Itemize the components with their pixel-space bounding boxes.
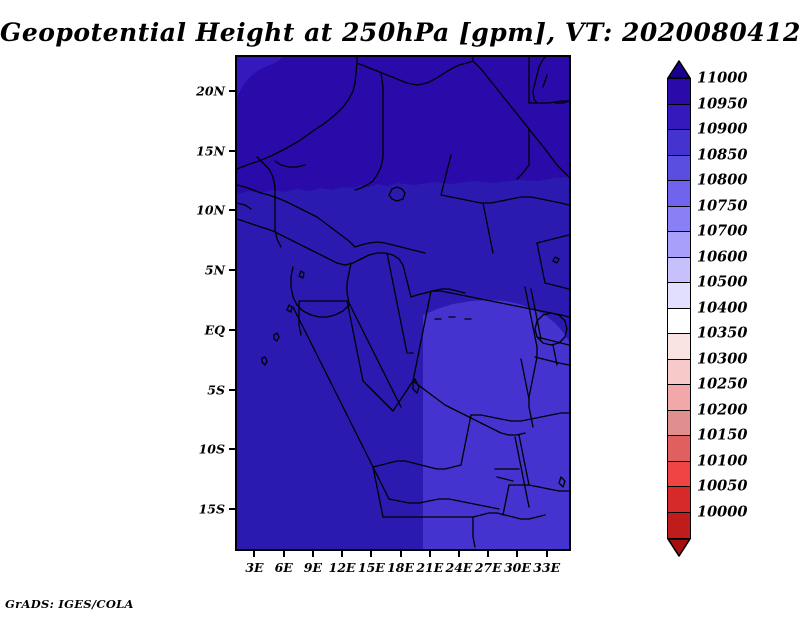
latitude-tick <box>229 90 235 92</box>
longitude-tick <box>370 551 372 557</box>
colorbar-segment <box>667 486 691 513</box>
longitude-tick <box>312 551 314 557</box>
longitude-tick <box>283 551 285 557</box>
colorbar-segment <box>667 333 691 360</box>
colorbar-segment <box>667 231 691 258</box>
latitude-tick <box>229 329 235 331</box>
colorbar-label-10400: 10400 <box>697 299 747 316</box>
colorbar-segment <box>667 257 691 284</box>
colorbar-label-10500: 10500 <box>697 274 747 291</box>
longitude-label-27e: 27E <box>475 560 502 575</box>
latitude-label-5s: 5S <box>207 382 225 397</box>
longitude-label-12e: 12E <box>329 560 356 575</box>
colorbar-label-10050: 10050 <box>697 478 747 495</box>
colorbar-segment <box>667 512 691 539</box>
longitude-label-9e: 9E <box>304 560 322 575</box>
colorbar-label-10700: 10700 <box>697 223 747 240</box>
colorbar-segment <box>667 410 691 437</box>
colorbar-cap-top <box>667 60 691 78</box>
latitude-tick <box>229 508 235 510</box>
colorbar-label-10150: 10150 <box>697 427 747 444</box>
longitude-tick <box>487 551 489 557</box>
colorbar-label-10200: 10200 <box>697 401 747 418</box>
latitude-label-15n: 15N <box>196 143 225 158</box>
longitude-label-18e: 18E <box>387 560 414 575</box>
colorbar-label-10850: 10850 <box>697 146 747 163</box>
longitude-label-30e: 30E <box>504 560 531 575</box>
latitude-label-5n: 5N <box>205 263 225 278</box>
colorbar: 1100010950109001085010800107501070010600… <box>667 60 691 555</box>
longitude-tick <box>253 551 255 557</box>
colorbar-segment <box>667 435 691 462</box>
map-plot-area <box>235 55 571 551</box>
latitude-label-eq: EQ <box>205 322 225 337</box>
latitude-tick <box>229 389 235 391</box>
longitude-label-3e: 3E <box>245 560 263 575</box>
page-title: Geopotential Height at 250hPa [gpm], VT:… <box>0 18 800 47</box>
longitude-label-24e: 24E <box>446 560 473 575</box>
colorbar-segment <box>667 461 691 488</box>
map-frame <box>235 55 571 551</box>
longitude-tick <box>429 551 431 557</box>
longitude-label-33e: 33E <box>533 560 560 575</box>
colorbar-segment <box>667 359 691 386</box>
longitude-label-15e: 15E <box>358 560 385 575</box>
longitude-tick <box>546 551 548 557</box>
credit-label: GrADS: IGES/COLA <box>5 597 134 611</box>
colorbar-segment <box>667 78 691 105</box>
colorbar-segment <box>667 384 691 411</box>
colorbar-label-10950: 10950 <box>697 95 747 112</box>
colorbar-segment <box>667 206 691 233</box>
longitude-tick <box>516 551 518 557</box>
longitude-tick <box>341 551 343 557</box>
colorbar-label-11000: 11000 <box>697 70 747 87</box>
colorbar-segment <box>667 129 691 156</box>
longitude-label-21e: 21E <box>416 560 443 575</box>
longitude-tick <box>400 551 402 557</box>
colorbar-label-10250: 10250 <box>697 376 747 393</box>
latitude-tick <box>229 150 235 152</box>
colorbar-label-10800: 10800 <box>697 172 747 189</box>
longitude-label-6e: 6E <box>275 560 293 575</box>
colorbar-segment <box>667 180 691 207</box>
colorbar-label-10000: 10000 <box>697 503 747 520</box>
colorbar-label-10300: 10300 <box>697 350 747 367</box>
colorbar-segment <box>667 308 691 335</box>
colorbar-label-10900: 10900 <box>697 121 747 138</box>
colorbar-segment <box>667 155 691 182</box>
latitude-tick <box>229 448 235 450</box>
colorbar-label-10350: 10350 <box>697 325 747 342</box>
colorbar-segment <box>667 104 691 131</box>
latitude-tick <box>229 269 235 271</box>
colorbar-cap-bottom <box>667 537 691 555</box>
colorbar-label-10100: 10100 <box>697 452 747 469</box>
latitude-label-10s: 10S <box>199 442 225 457</box>
latitude-label-15s: 15S <box>199 502 225 517</box>
colorbar-label-10750: 10750 <box>697 197 747 214</box>
colorbar-segment <box>667 282 691 309</box>
longitude-tick <box>458 551 460 557</box>
latitude-tick <box>229 209 235 211</box>
colorbar-label-10600: 10600 <box>697 248 747 265</box>
latitude-label-20n: 20N <box>196 83 225 98</box>
latitude-label-10n: 10N <box>196 203 225 218</box>
